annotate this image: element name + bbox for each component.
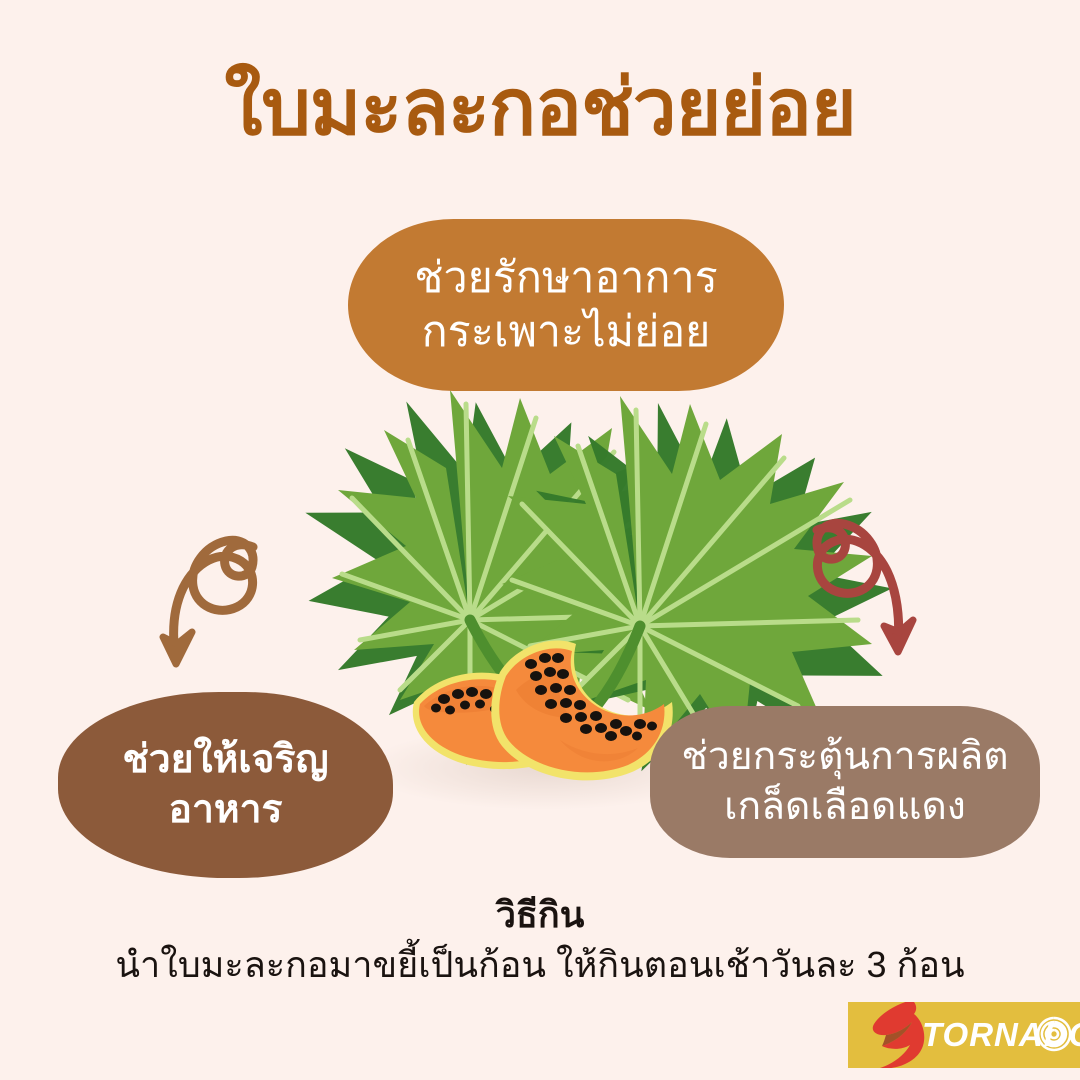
benefit-top-line1: ช่วยรักษาอาการ: [414, 251, 717, 305]
benefit-right-line2: เกล็ดเลือดแดง: [724, 782, 966, 832]
papaya-seeds-left: [431, 687, 519, 721]
papaya-stems: [470, 620, 640, 722]
leaf-veins-right: [512, 410, 858, 750]
page-title: ใบมะละกอช่วยย่อย: [0, 62, 1080, 152]
benefit-top-line2: กระเพาะไม่ย่อย: [422, 305, 711, 359]
papaya-slice-right: [491, 640, 673, 780]
infographic-canvas: ใบมะละกอช่วยย่อย: [0, 0, 1080, 1080]
papaya-slice-left: [413, 673, 568, 770]
howto-heading: วิธีกิน: [0, 893, 1080, 937]
curly-arrow-down-right-icon: [817, 523, 913, 652]
benefit-left-line1: ช่วยให้เจริญ: [122, 735, 328, 785]
benefit-pill-right[interactable]: ช่วยกระตุ้นการผลิต เกล็ดเลือดแดง: [650, 706, 1040, 858]
benefit-left-line2: อาหาร: [169, 785, 283, 835]
benefit-right-line1: ช่วยกระตุ้นการผลิต: [681, 732, 1008, 782]
howto-body: นำใบมะละกอมาขยี้เป็นก้อน ให้กินตอนเช้าวั…: [0, 941, 1080, 989]
tornado-logo[interactable]: TORNADO: [848, 1002, 1080, 1068]
leaf-veins-left: [342, 404, 688, 744]
benefit-pill-top[interactable]: ช่วยรักษาอาการ กระเพาะไม่ย่อย: [348, 219, 784, 391]
spiral-o-icon: [1036, 1016, 1072, 1052]
benefit-pill-left[interactable]: ช่วยให้เจริญ อาหาร: [58, 692, 393, 878]
papaya-seeds-right: [525, 653, 657, 741]
curly-arrow-down-left-icon: [163, 540, 253, 664]
